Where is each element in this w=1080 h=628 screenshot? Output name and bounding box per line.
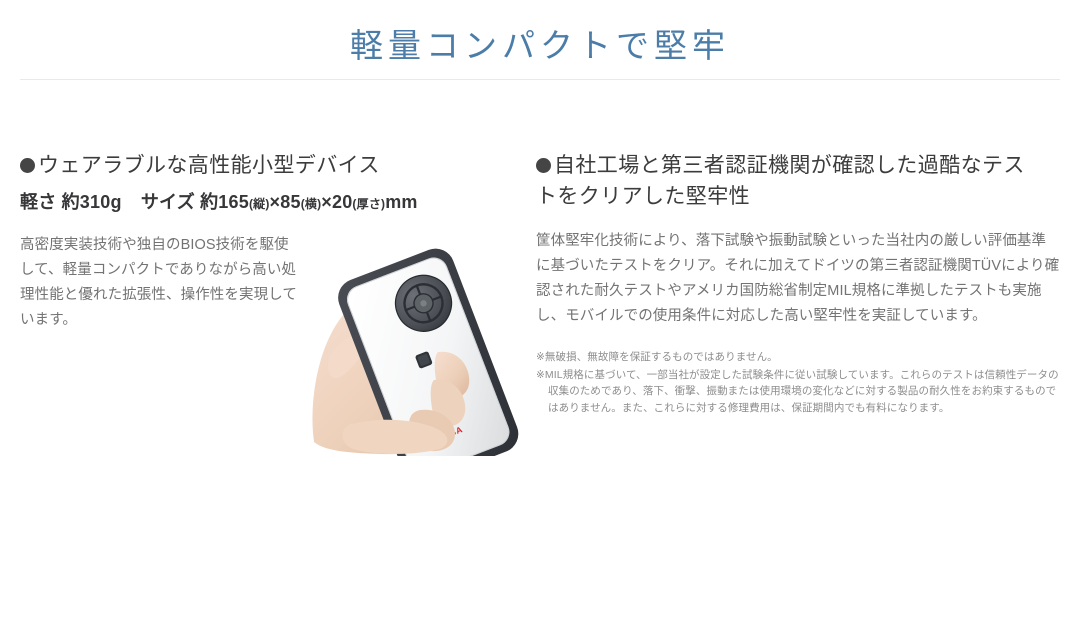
size-separator-1: × <box>270 192 281 212</box>
size-note-height: (縦) <box>249 197 270 211</box>
filled-circle-bullet-icon <box>536 158 551 173</box>
content-columns: ウェアラブルな高性能小型デバイス 軽さ 約310g サイズ 約165(縦)×85… <box>0 150 1080 417</box>
page-header: 軽量コンパクトで堅牢 <box>0 0 1080 80</box>
disclaimer-notes: ※無破損、無故障を保証するものではありません。 ※MIL規格に基づいて、一部当社… <box>536 349 1064 416</box>
left-column: ウェアラブルな高性能小型デバイス 軽さ 約310g サイズ 約165(縦)×85… <box>0 150 528 333</box>
weight-label: 軽さ <box>20 192 56 212</box>
header-divider <box>20 79 1060 80</box>
left-section-heading-label: ウェアラブルな高性能小型デバイス <box>38 154 380 177</box>
right-body-text: 筐体堅牢化技術により、落下試験や振動試験といった当社内の厳しい評価基準に基づいた… <box>536 229 1060 329</box>
filled-circle-bullet-icon <box>20 158 35 173</box>
size-unit: mm <box>385 192 417 212</box>
size-separator-2: × <box>321 192 332 212</box>
product-photo-illustration: TOSHIBA <box>310 228 525 456</box>
left-body-text: 高密度実装技術や独自のBIOS技術を駆使して、軽量コンパクトでありながら高い処理… <box>20 233 300 333</box>
size-note-thickness: (厚さ) <box>352 197 385 211</box>
device-spec-line: 軽さ 約310g サイズ 約165(縦)×85(横)×20(厚さ)mm <box>20 190 528 216</box>
weight-value: 約310g <box>62 192 122 212</box>
note-item: ※MIL規格に基づいて、一部当社が設定した試験条件に従い試験しています。これらの… <box>536 367 1064 417</box>
page-title: 軽量コンパクトで堅牢 <box>0 26 1080 66</box>
product-photo: TOSHIBA <box>310 228 525 456</box>
size-note-width: (横) <box>301 197 322 211</box>
size-value-thickness: 20 <box>332 192 352 212</box>
note-item: ※無破損、無故障を保証するものではありません。 <box>536 349 1064 366</box>
size-label: サイズ <box>141 192 195 212</box>
size-value-height: 約165 <box>200 192 249 212</box>
left-section-heading: ウェアラブルな高性能小型デバイス <box>20 150 528 181</box>
right-column: 自社工場と第三者認証機関が確認した過酷なテストをクリアした堅牢性 筐体堅牢化技術… <box>528 150 1080 417</box>
size-value-width: 85 <box>280 192 300 212</box>
right-section-heading-label: 自社工場と第三者認証機関が確認した過酷なテストをクリアした堅牢性 <box>536 154 1025 208</box>
right-section-heading: 自社工場と第三者認証機関が確認した過酷なテストをクリアした堅牢性 <box>536 150 1046 212</box>
